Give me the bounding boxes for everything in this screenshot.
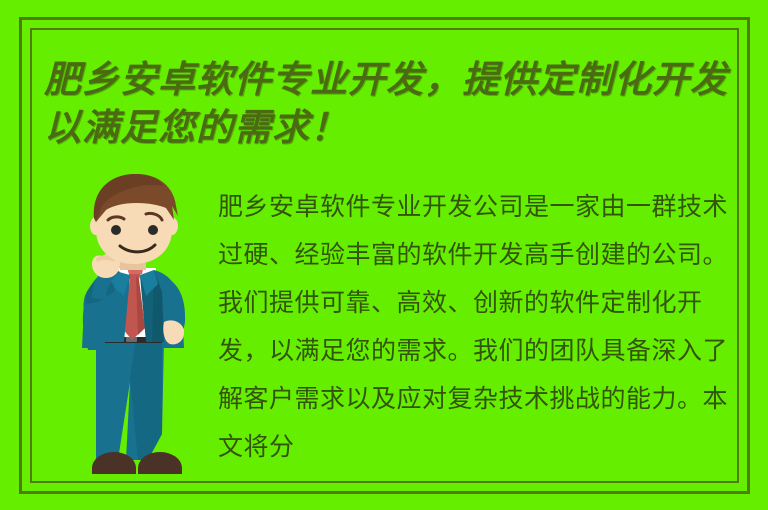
poster-canvas: 肥乡安卓软件专业开发，提供定制化开发以满足您的需求！ 肥乡安卓软件专业开发公司是… [0,0,768,510]
body-paragraph: 肥乡安卓软件专业开发公司是一家由一群技术过硬、经验丰富的软件开发高手创建的公司。… [218,183,730,471]
ear-right [166,217,178,235]
page-title: 肥乡安卓软件专业开发，提供定制化开发以满足您的需求！ [44,57,734,153]
eye-left [111,225,121,235]
thinking-businessman-illustration [52,172,212,482]
eye-right [148,225,158,235]
